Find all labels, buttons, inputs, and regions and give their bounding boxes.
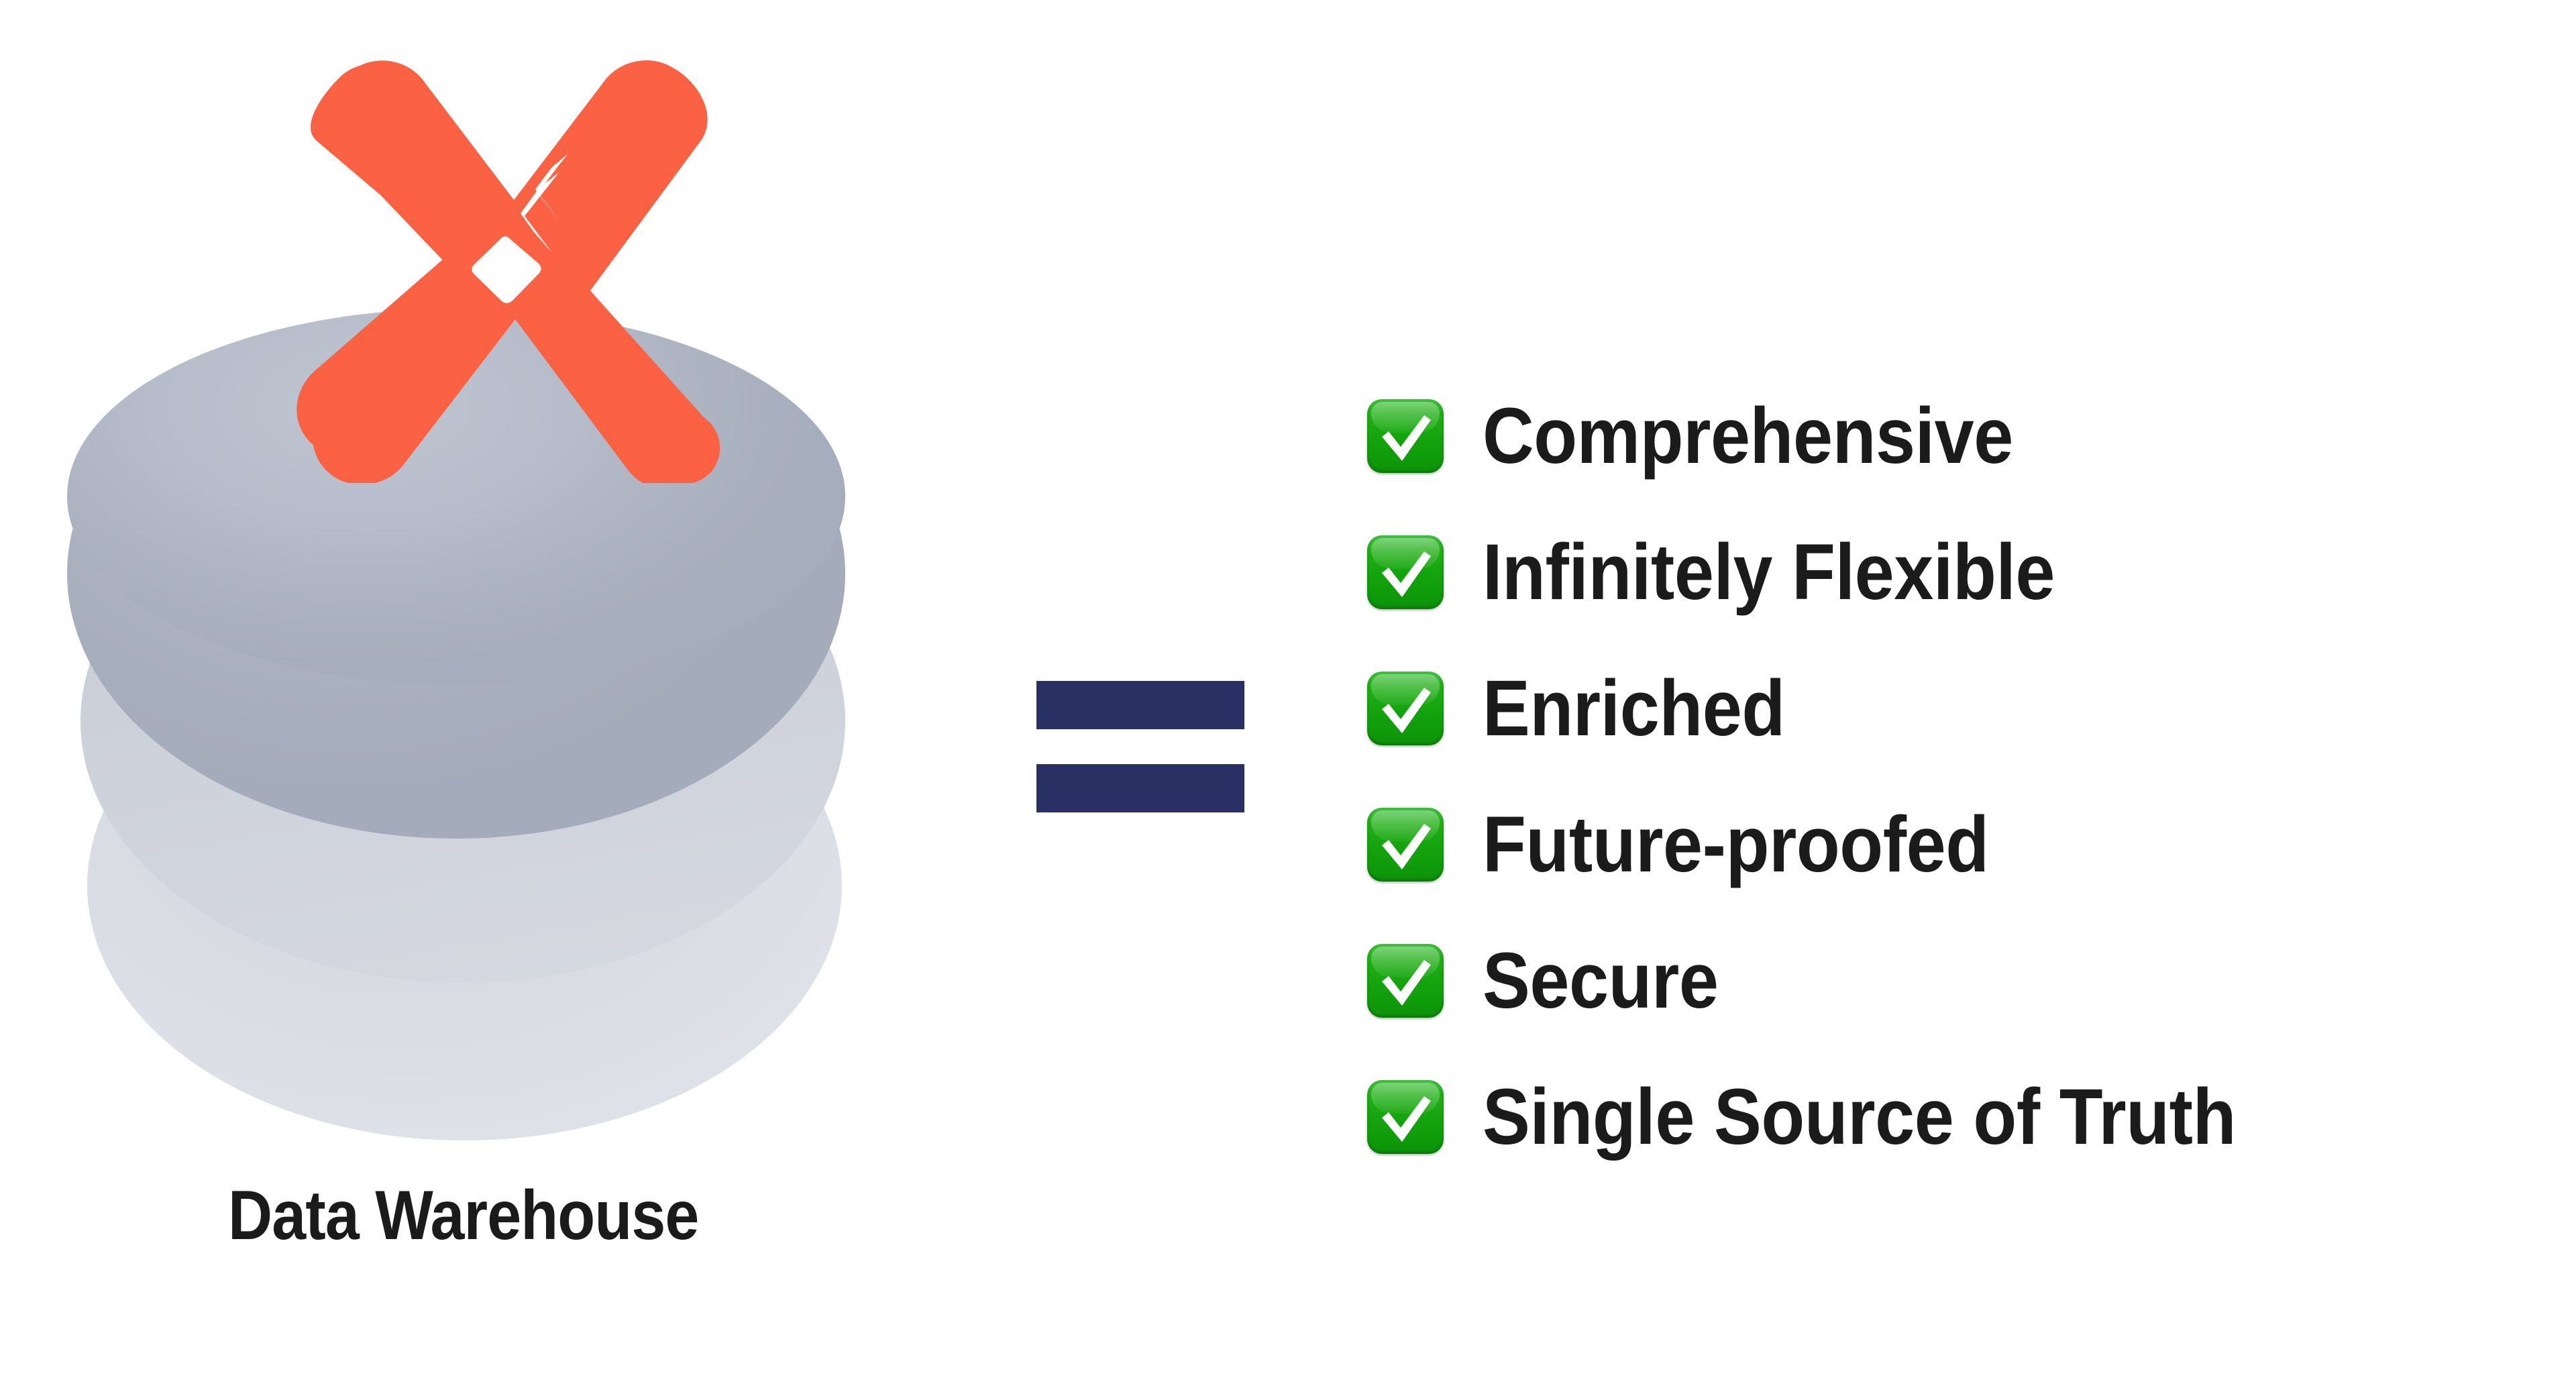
benefit-item: Future-proofed (1367, 776, 2548, 912)
benefit-label: Infinitely Flexible (1483, 533, 2055, 612)
orange-x-logo-icon (288, 40, 731, 483)
data-warehouse-caption: Data Warehouse (228, 1181, 818, 1250)
benefit-item: Single Source of Truth (1367, 1049, 2548, 1185)
equals-sign (1036, 681, 1244, 815)
benefit-item: Infinitely Flexible (1367, 504, 2548, 640)
benefit-label: Enriched (1483, 669, 1785, 748)
white-heavy-check-mark-icon (1367, 399, 1444, 473)
benefit-item: Secure (1367, 912, 2548, 1049)
benefit-label: Future-proofed (1483, 805, 1989, 884)
slide-canvas: Data Warehouse Comprehensive Infinitely … (0, 0, 2576, 1386)
equals-bar-bottom (1036, 764, 1244, 812)
benefits-checklist: Comprehensive Infinitely Flexible Enrich… (1367, 368, 2548, 1185)
white-heavy-check-mark-icon (1367, 672, 1444, 745)
benefit-label: Single Source of Truth (1483, 1077, 2236, 1157)
equals-bar-top (1036, 681, 1244, 729)
data-warehouse-graphic: Data Warehouse (67, 40, 939, 1167)
white-heavy-check-mark-icon (1367, 1080, 1444, 1154)
white-heavy-check-mark-icon (1367, 944, 1444, 1018)
white-heavy-check-mark-icon (1367, 808, 1444, 882)
benefit-label: Comprehensive (1483, 396, 2013, 476)
benefit-item: Enriched (1367, 640, 2548, 776)
white-heavy-check-mark-icon (1367, 535, 1444, 609)
benefit-label: Secure (1483, 941, 1719, 1020)
benefit-item: Comprehensive (1367, 368, 2548, 504)
